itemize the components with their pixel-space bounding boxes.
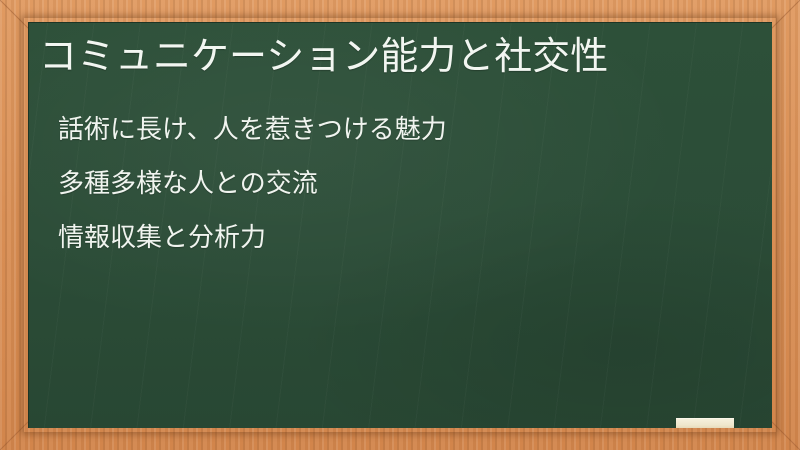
blackboard-slide: コミュニケーション能力と社交性 話術に長け、人を惹きつける魅力 多種多様な人との… (0, 0, 800, 450)
bullet-item-1: 話術に長け、人を惹きつける魅力 (58, 103, 447, 157)
bullet-item-2: 多種多様な人との交流 (58, 157, 447, 211)
slide-title: コミュニケーション能力と社交性 (39, 32, 608, 80)
slide-content: コミュニケーション能力と社交性 話術に長け、人を惹きつける魅力 多種多様な人との… (29, 23, 772, 428)
bullet-list: 話術に長け、人を惹きつける魅力 多種多様な人との交流 情報収集と分析力 (58, 103, 447, 265)
bullet-item-3: 情報収集と分析力 (58, 211, 447, 265)
chalkboard-surface: コミュニケーション能力と社交性 話術に長け、人を惹きつける魅力 多種多様な人との… (28, 22, 772, 428)
chalk-eraser (676, 418, 734, 428)
